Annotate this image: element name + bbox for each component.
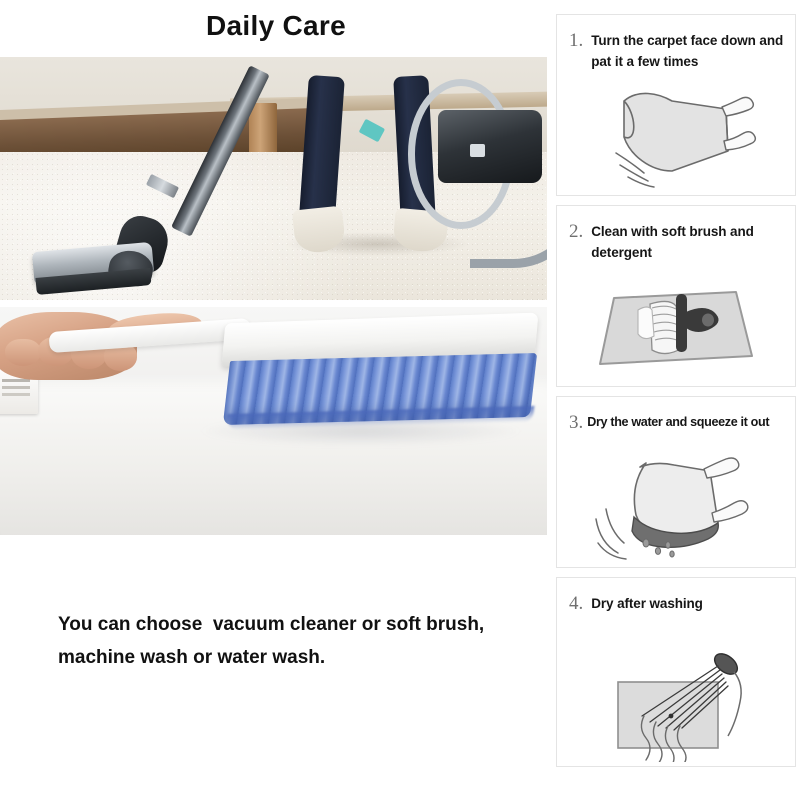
step-header: 1. Turn the carpet face down and pat it …	[557, 15, 795, 73]
step-text: Dry the water and squeeze it out	[587, 413, 769, 433]
shower-rinse-icon	[557, 650, 795, 762]
carpet-shake-icon	[557, 79, 795, 191]
step-header: 2. Clean with soft brush and detergent	[557, 206, 795, 264]
brush-on-mat-icon	[557, 270, 795, 382]
photo-vacuum-hose	[470, 171, 547, 267]
photo-vacuum-button	[470, 144, 484, 156]
step-card-2: 2. Clean with soft brush and detergent	[556, 205, 796, 387]
step-text: Turn the carpet face down and pat it a f…	[591, 31, 785, 73]
step-number: 2.	[569, 222, 583, 243]
step-number: 3.	[569, 413, 583, 434]
step-text: Dry after washing	[591, 594, 703, 615]
step-number: 4.	[569, 594, 583, 615]
step-card-1: 1. Turn the carpet face down and pat it …	[556, 14, 796, 196]
care-caption: You can choose vacuum cleaner or soft br…	[58, 608, 538, 675]
step-number: 1.	[569, 31, 583, 52]
step-card-4: 4. Dry after washing	[556, 577, 796, 767]
step-card-3: 3. Dry the water and squeeze it out	[556, 396, 796, 568]
step-header: 4. Dry after washing	[557, 578, 795, 615]
page-title: Daily Care	[0, 10, 552, 42]
photo-column	[0, 57, 547, 535]
blue-brush-photo	[0, 307, 547, 535]
step-list: 1. Turn the carpet face down and pat it …	[556, 14, 796, 776]
carpet-squeeze-icon	[557, 457, 795, 563]
step-header: 3. Dry the water and squeeze it out	[557, 397, 795, 434]
vacuuming-carpet-photo	[0, 57, 547, 300]
step-text: Clean with soft brush and detergent	[591, 222, 785, 264]
